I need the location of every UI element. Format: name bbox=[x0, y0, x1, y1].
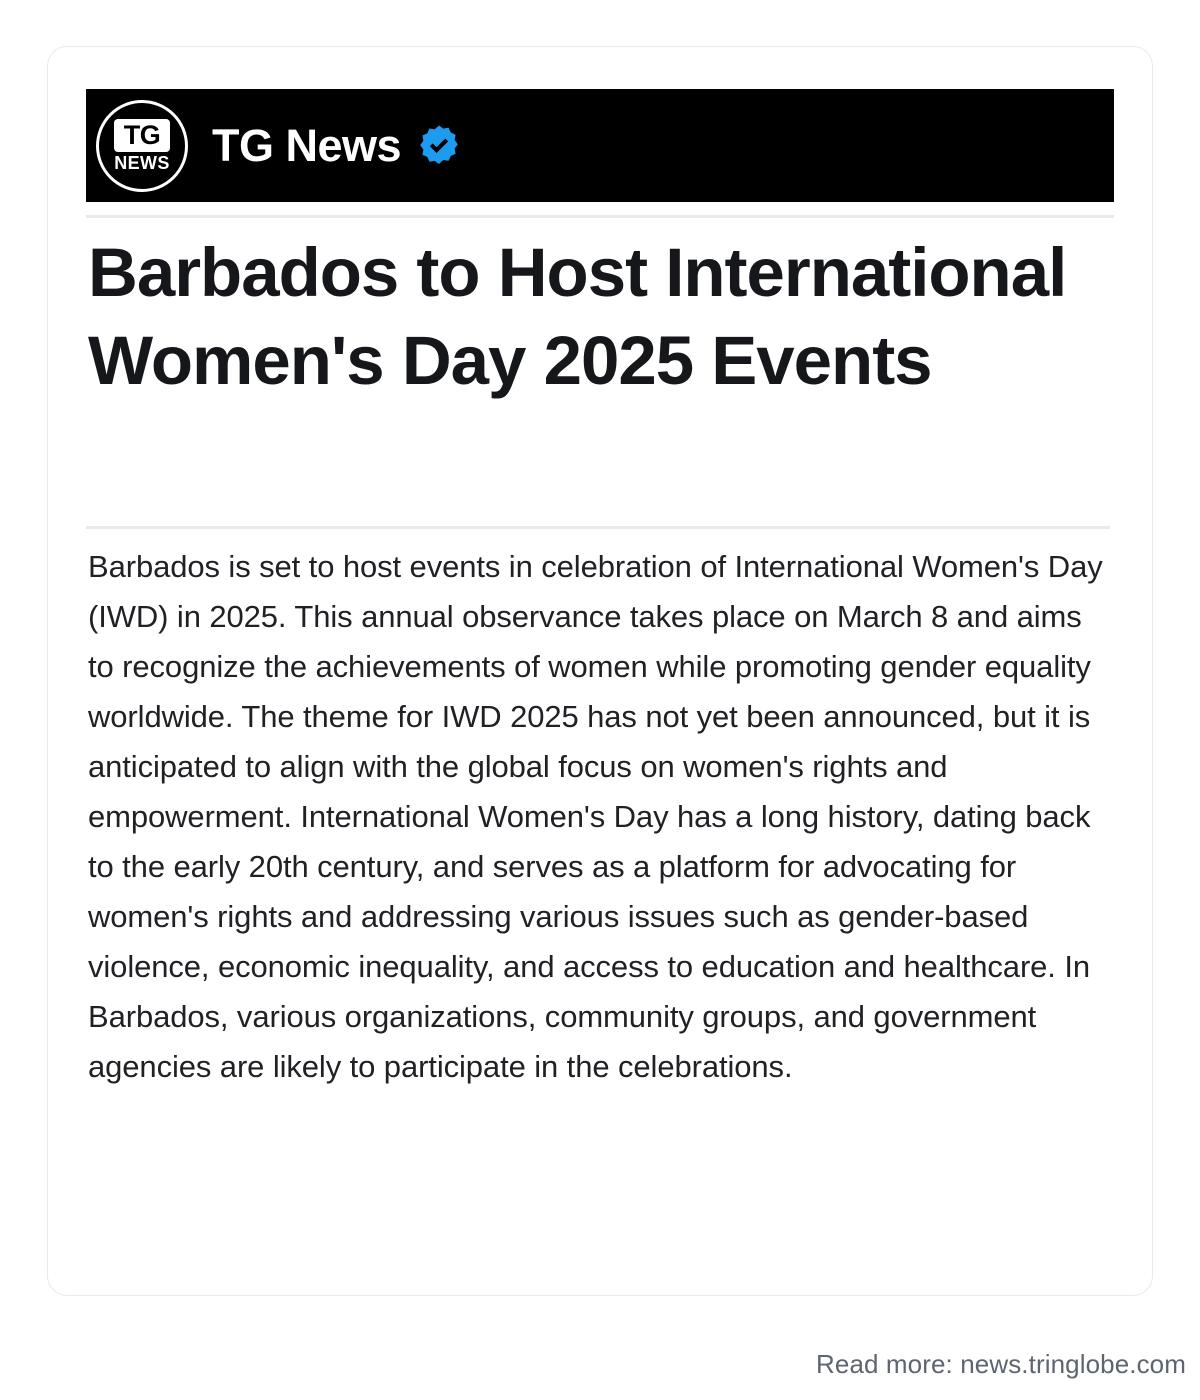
article-headline: Barbados to Host International Women's D… bbox=[88, 229, 1098, 405]
article-card: TG NEWS TG News Barbados to Host Interna… bbox=[47, 46, 1153, 1296]
header-divider bbox=[86, 215, 1114, 218]
publisher-header: TG NEWS TG News bbox=[86, 89, 1114, 202]
logo-mark-text: TG bbox=[124, 122, 161, 149]
logo-tg-box: TG bbox=[114, 119, 170, 152]
logo-sub-text: NEWS bbox=[114, 154, 170, 172]
article-body: Barbados is set to host events in celebr… bbox=[88, 542, 1110, 1092]
tg-news-circle-logo-icon: TG NEWS bbox=[96, 100, 188, 192]
read-more-link[interactable]: Read more: news.tringlobe.com bbox=[816, 1349, 1186, 1380]
verified-badge-icon bbox=[417, 124, 461, 168]
publisher-name: TG News bbox=[212, 120, 401, 172]
news-card-page: TG NEWS TG News Barbados to Host Interna… bbox=[0, 0, 1200, 1400]
headline-divider bbox=[86, 526, 1110, 529]
